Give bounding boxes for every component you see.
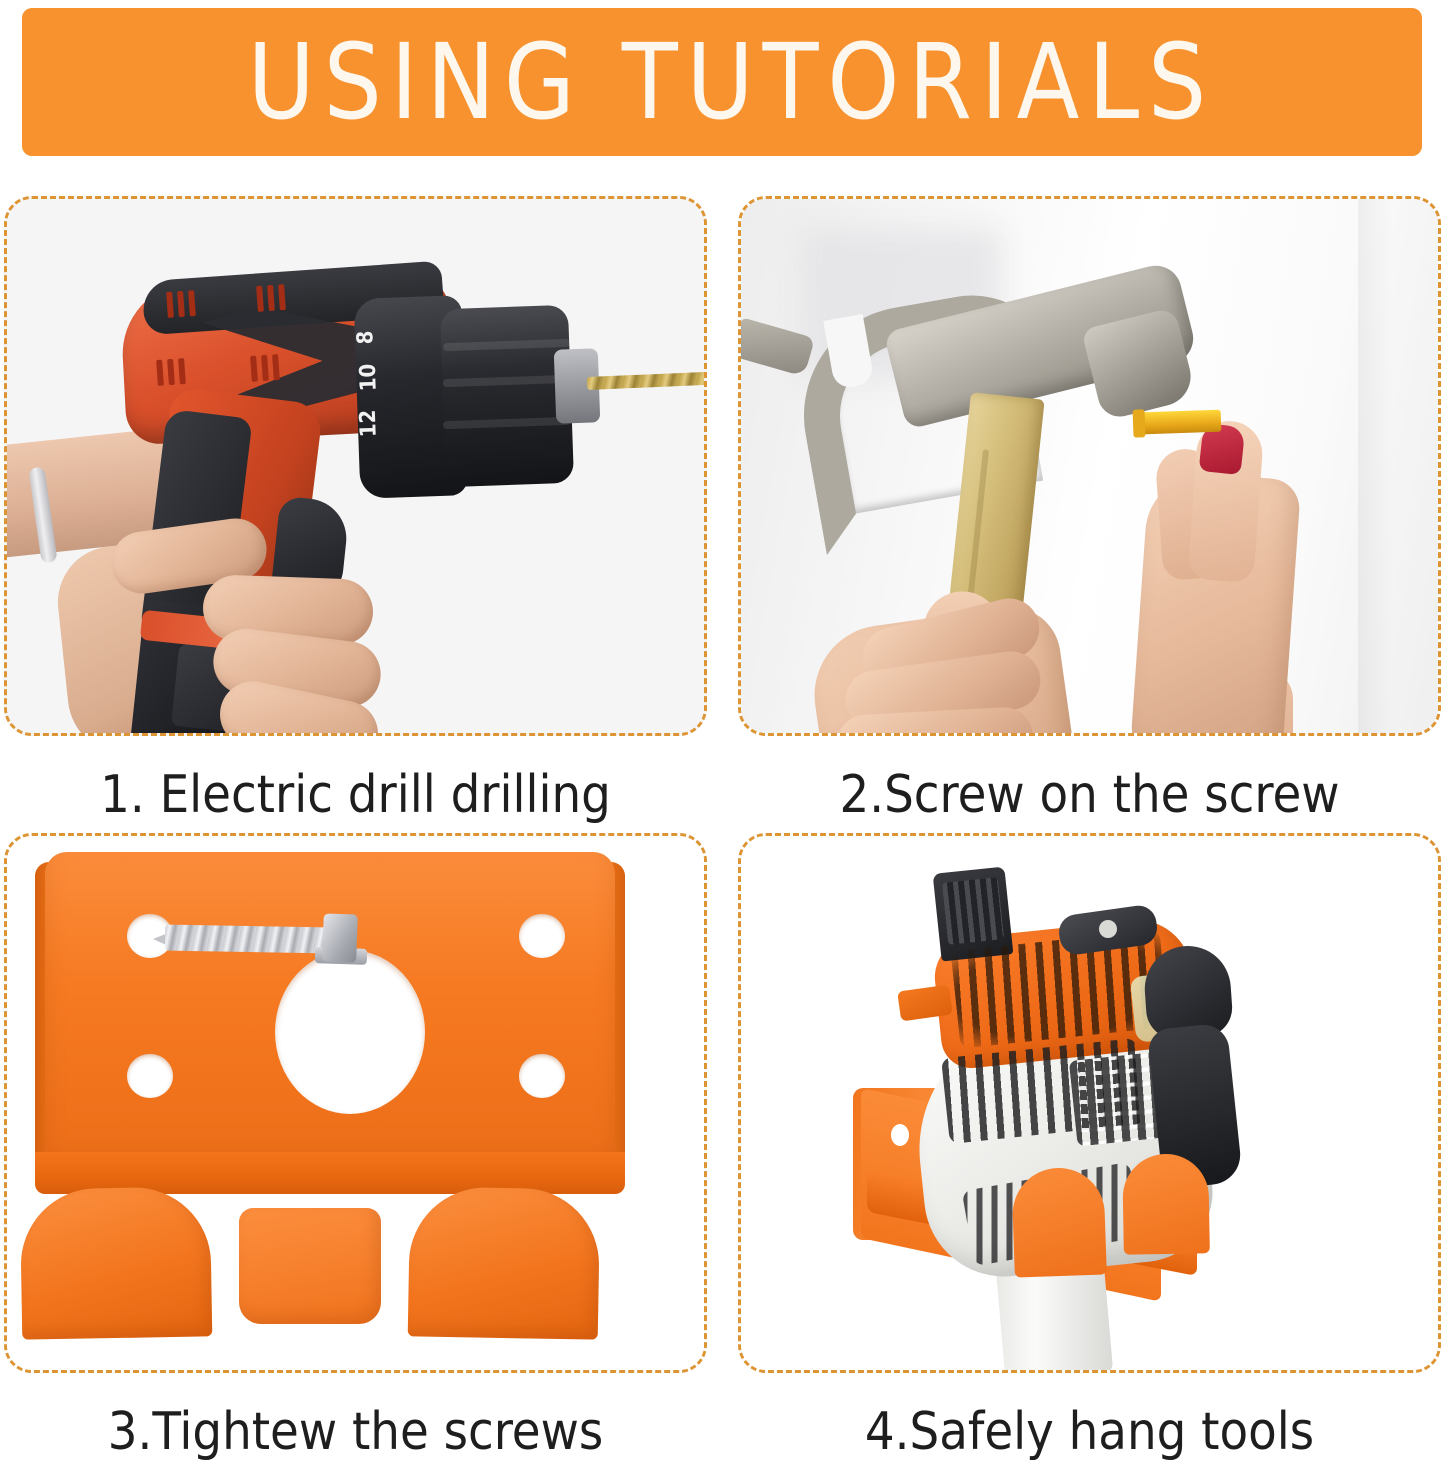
bracket-prong-center bbox=[239, 1208, 381, 1324]
exhaust-slots bbox=[942, 877, 1004, 945]
step-1-image-panel: 8 10 12 bbox=[4, 196, 707, 736]
step-3-image-panel bbox=[4, 833, 707, 1373]
tutorial-step-2: 2.Screw on the screw bbox=[738, 196, 1441, 826]
header-banner: USING TUTORIALS bbox=[22, 8, 1422, 156]
tutorial-steps-grid: 8 10 12 1. Electric drill drilling bbox=[0, 196, 1445, 1451]
mounting-hole bbox=[519, 1054, 565, 1098]
mounting-hole bbox=[519, 914, 565, 958]
bracket-prong-left bbox=[1011, 1166, 1107, 1277]
bracket-prong-right bbox=[1122, 1153, 1210, 1254]
drill-chuck bbox=[440, 305, 574, 487]
trimmer-on-bracket-illustration bbox=[741, 836, 1438, 1370]
tutorial-step-1: 8 10 12 1. Electric drill drilling bbox=[4, 196, 707, 826]
drill-vent bbox=[256, 284, 286, 312]
screw-shaft-icon bbox=[165, 925, 331, 954]
bracket-prong-right bbox=[408, 1186, 601, 1339]
electric-drill-illustration: 8 10 12 bbox=[7, 199, 704, 733]
clutch-number-8: 8 bbox=[353, 330, 378, 345]
wall-anchor-icon bbox=[1141, 410, 1222, 435]
mounting-hole bbox=[127, 1054, 173, 1098]
tutorial-step-4: 4.Safely hang tools bbox=[738, 833, 1441, 1463]
drill-vent bbox=[166, 290, 196, 318]
hammer-and-anchor-illustration bbox=[741, 199, 1438, 733]
clutch-number-10: 10 bbox=[356, 363, 382, 391]
screw-hex-head bbox=[322, 913, 358, 962]
bracket-with-screw-illustration bbox=[7, 836, 704, 1370]
clutch-number-12: 12 bbox=[356, 409, 382, 437]
center-oval-hole bbox=[275, 950, 425, 1114]
step-2-image-panel bbox=[738, 196, 1441, 736]
tutorial-step-3: 3.Tightew the screws bbox=[4, 833, 707, 1463]
page-title: USING TUTORIALS bbox=[228, 30, 1215, 134]
step-4-image-panel bbox=[738, 833, 1441, 1373]
step-3-caption: 3.Tightew the screws bbox=[4, 1401, 707, 1463]
step-1-caption: 1. Electric drill drilling bbox=[4, 764, 707, 826]
bracket-prong-left bbox=[20, 1186, 213, 1339]
drill-vent bbox=[156, 358, 186, 386]
mounting-hole bbox=[891, 1124, 909, 1146]
drill-vent bbox=[250, 354, 280, 382]
step-4-caption: 4.Safely hang tools bbox=[738, 1401, 1441, 1463]
step-2-caption: 2.Screw on the screw bbox=[738, 764, 1441, 826]
